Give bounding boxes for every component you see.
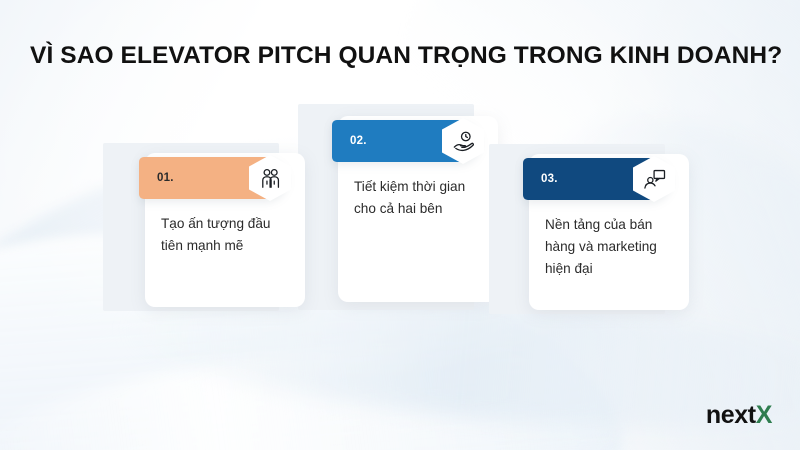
brand-logo-accent: X [756, 401, 772, 429]
card-03-text: Nền tảng của bán hàng và marketing hiện … [545, 214, 673, 280]
slide-canvas: VÌ SAO ELEVATOR PITCH QUAN TRỌNG TRONG K… [0, 0, 800, 450]
two-people-icon [249, 155, 291, 201]
page-title: VÌ SAO ELEVATOR PITCH QUAN TRỌNG TRONG K… [30, 42, 790, 70]
card-02-number: 02. [350, 135, 367, 147]
card-02-header: 02. [332, 120, 480, 162]
card-01: 01. Tạo ấn tượng đầu tiên mạnh mẽ [103, 143, 303, 311]
card-01-number: 01. [157, 172, 174, 184]
card-02-panel[interactable]: 02. Tiết kiệm thời gian cho cả hai bên [338, 116, 498, 302]
brand-logo: nextX [706, 401, 772, 430]
card-01-panel[interactable]: 01. Tạo ấn tượng đầu tiên mạnh mẽ [145, 153, 305, 307]
card-03: 03. Nền tảng của bán hàng và marketing h… [489, 144, 689, 314]
card-03-header: 03. [523, 158, 671, 200]
card-01-header: 01. [139, 157, 287, 199]
card-03-number: 03. [541, 173, 558, 185]
person-speech-bubble-icon [633, 156, 675, 202]
hand-holding-clock-icon [442, 118, 484, 164]
card-02: 02. Tiết kiệm thời gian cho cả hai bên [298, 104, 498, 310]
card-01-text: Tạo ấn tượng đầu tiên mạnh mẽ [161, 213, 279, 257]
brand-logo-primary: next [706, 401, 756, 429]
card-03-panel[interactable]: 03. Nền tảng của bán hàng và marketing h… [529, 154, 689, 310]
card-02-text: Tiết kiệm thời gian cho cả hai bên [354, 176, 482, 220]
